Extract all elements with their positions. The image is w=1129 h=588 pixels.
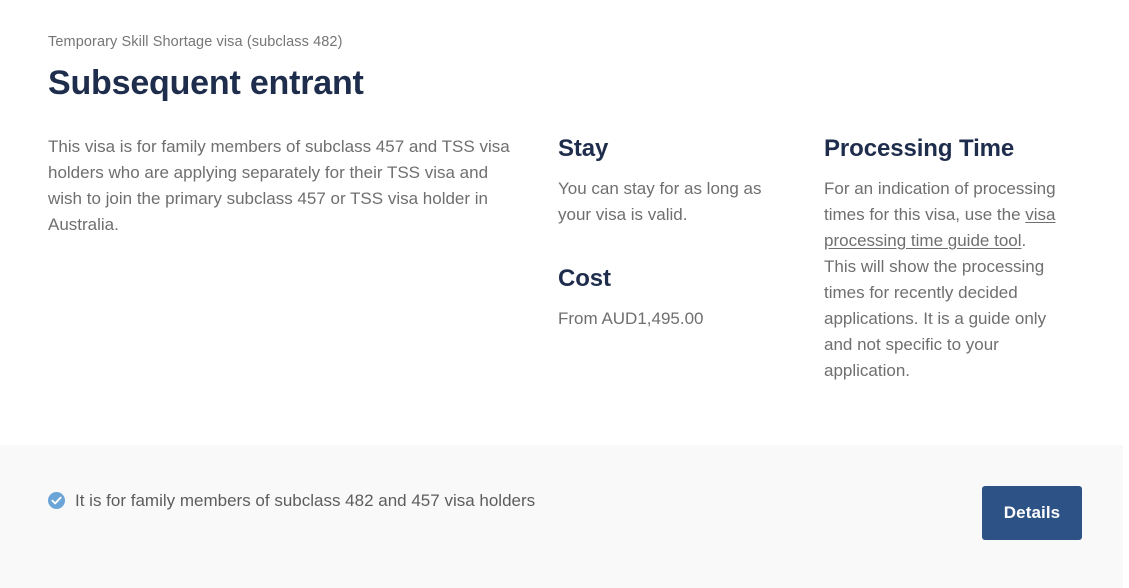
card-body: Temporary Skill Shortage visa (subclass … xyxy=(0,0,1123,445)
intro-description: This visa is for family members of subcl… xyxy=(48,134,526,238)
visa-summary-card: Temporary Skill Shortage visa (subclass … xyxy=(0,0,1123,588)
processing-text-before-link: For an indication of processing times fo… xyxy=(824,179,1056,224)
eligibility-point-label: It is for family members of subclass 482… xyxy=(75,489,535,513)
eligibility-point: It is for family members of subclass 482… xyxy=(48,489,535,513)
card-footer: It is for family members of subclass 482… xyxy=(0,445,1123,588)
page-title: Subsequent entrant xyxy=(48,62,1075,104)
stay-heading: Stay xyxy=(558,134,792,164)
cost-description: From AUD1,495.00 xyxy=(558,306,792,332)
processing-time-description: For an indication of processing times fo… xyxy=(824,176,1061,384)
cost-heading: Cost xyxy=(558,264,792,294)
processing-time-column: Processing Time For an indication of pro… xyxy=(824,134,1061,384)
processing-text-after-link: . This will show the processing times fo… xyxy=(824,231,1046,380)
visa-subclass-eyebrow: Temporary Skill Shortage visa (subclass … xyxy=(48,32,1075,52)
processing-time-heading: Processing Time xyxy=(824,134,1061,164)
stay-description: You can stay for as long as your visa is… xyxy=(558,176,792,228)
info-columns: This visa is for family members of subcl… xyxy=(48,134,1075,384)
details-button[interactable]: Details xyxy=(982,486,1082,540)
intro-column: This visa is for family members of subcl… xyxy=(48,134,558,238)
stay-cost-column: Stay You can stay for as long as your vi… xyxy=(558,134,824,332)
check-circle-icon xyxy=(48,492,65,509)
